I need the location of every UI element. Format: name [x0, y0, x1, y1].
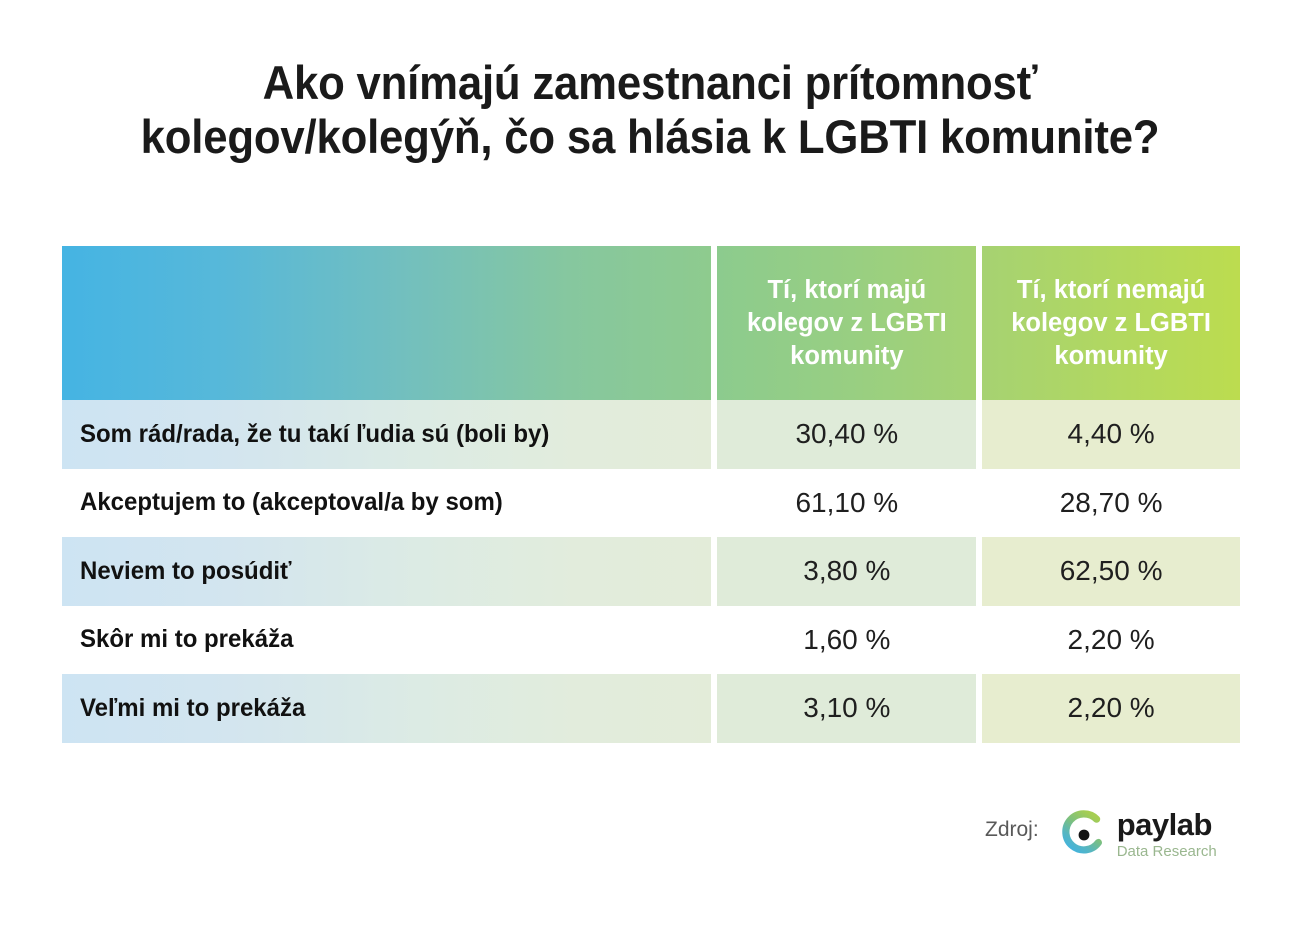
table-row-col2-value: 4,40 % [1068, 418, 1155, 450]
table-header-row: Tí, ktorí majú kolegov z LGBTI komunity … [62, 246, 1240, 400]
table-row: Skôr mi to prekáža 1,60 % 2,20 % [62, 606, 1240, 675]
page-title: Ako vnímajú zamestnanci prítomnosť koleg… [0, 56, 1300, 164]
table-row-col1-value: 3,10 % [803, 692, 890, 724]
table-row: Akceptujem to (akceptoval/a by som) 61,1… [62, 469, 1240, 538]
table-row-col1-value: 61,10 % [795, 487, 898, 519]
table-row-label: Veľmi mi to prekáža [80, 694, 305, 723]
table-row-col2-value: 28,70 % [1060, 487, 1163, 519]
table-row-col2-cell: 2,20 % [982, 674, 1240, 743]
table-row-label-cell: Veľmi mi to prekáža [62, 674, 711, 743]
table-row-col1-cell: 61,10 % [717, 469, 976, 538]
table-header-col1: Tí, ktorí majú kolegov z LGBTI komunity [717, 246, 976, 400]
paylab-logo: paylab Data Research [1057, 808, 1217, 862]
table-row: Som rád/rada, že tu takí ľudia sú (boli … [62, 400, 1240, 469]
infographic-page: Ako vnímajú zamestnanci prítomnosť koleg… [0, 0, 1300, 935]
page-title-line-2: kolegov/kolegýň, čo sa hlásia k LGBTI ko… [46, 110, 1255, 164]
results-table: Tí, ktorí majú kolegov z LGBTI komunity … [62, 246, 1240, 743]
table-row-label: Neviem to posúdiť [80, 557, 292, 586]
paylab-wordmark: paylab Data Research [1117, 808, 1217, 861]
table-row-col1-cell: 3,80 % [717, 537, 976, 606]
paylab-tagline: Data Research [1117, 843, 1217, 861]
table-row-col1-cell: 1,60 % [717, 606, 976, 675]
table-row-label: Skôr mi to prekáža [80, 625, 293, 654]
table-row-col2-cell: 4,40 % [982, 400, 1240, 469]
table-row-col2-cell: 28,70 % [982, 469, 1240, 538]
table-header-label-cell [62, 246, 711, 400]
table-row-col1-value: 30,40 % [795, 418, 898, 450]
table-header-col2-label: Tí, ktorí nemajú kolegov z LGBTI komunit… [982, 274, 1240, 373]
table-row-label-cell: Neviem to posúdiť [62, 537, 711, 606]
table-row-label-cell: Skôr mi to prekáža [62, 606, 711, 675]
paylab-name: paylab [1117, 808, 1217, 842]
table-row-col2-value: 2,20 % [1068, 692, 1155, 724]
table-row-col1-cell: 30,40 % [717, 400, 976, 469]
page-title-line-1: Ako vnímajú zamestnanci prítomnosť [46, 56, 1255, 110]
table-row: Veľmi mi to prekáža 3,10 % 2,20 % [62, 674, 1240, 743]
table-row-label-cell: Som rád/rada, že tu takí ľudia sú (boli … [62, 400, 711, 469]
paylab-ring-icon [1057, 808, 1111, 862]
table-row-col1-cell: 3,10 % [717, 674, 976, 743]
table-row-label-cell: Akceptujem to (akceptoval/a by som) [62, 469, 711, 538]
table-row-label: Akceptujem to (akceptoval/a by som) [80, 488, 503, 517]
table-row-label: Som rád/rada, že tu takí ľudia sú (boli … [80, 420, 549, 449]
source-attribution: Zdroj: paylab [985, 808, 1217, 862]
table-row-col1-value: 1,60 % [803, 624, 890, 656]
table-row-col2-value: 2,20 % [1068, 624, 1155, 656]
table-header-col1-label: Tí, ktorí majú kolegov z LGBTI komunity [717, 274, 976, 373]
table-header-col2: Tí, ktorí nemajú kolegov z LGBTI komunit… [982, 246, 1240, 400]
table-row-col2-value: 62,50 % [1060, 555, 1163, 587]
table-row-col2-cell: 2,20 % [982, 606, 1240, 675]
table-row-col2-cell: 62,50 % [982, 537, 1240, 606]
source-label: Zdroj: [985, 818, 1039, 842]
table-row-col1-value: 3,80 % [803, 555, 890, 587]
table-row: Neviem to posúdiť 3,80 % 62,50 % [62, 537, 1240, 606]
